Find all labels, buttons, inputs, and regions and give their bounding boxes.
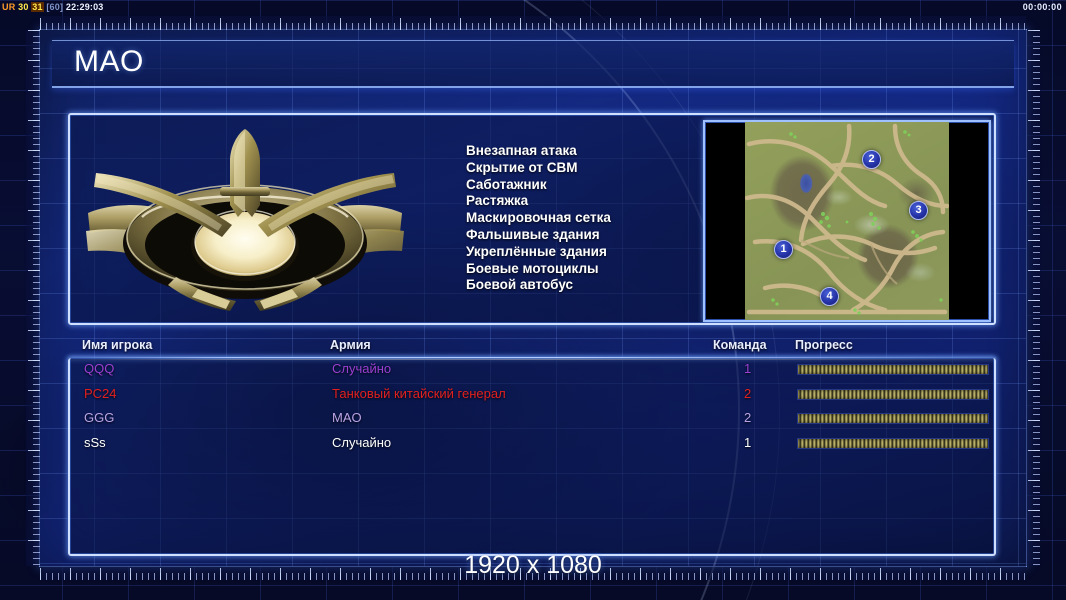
player-progress-bar [797,438,989,449]
session-time: 22:29:03 [66,2,104,12]
ability-item: Фальшивые здания [466,227,611,244]
progress-track [797,364,989,375]
player-army: Случайно [332,435,391,450]
ruler-right [1026,30,1040,566]
player-progress-bar [797,389,989,400]
fps-value-a: 30 [18,2,28,12]
fps-prefix: UR [2,2,15,12]
map-start-position: 2 [862,150,881,169]
column-header-progress: Прогресс [795,338,853,352]
column-header-army: Армия [330,338,371,352]
player-progress-bar [797,364,989,375]
clock: 00:00:00 [1023,0,1062,14]
player-name: QQQ [84,361,114,376]
progress-fill [798,390,988,399]
ruler-top [40,16,1026,30]
player-rows: QQQСлучайно1PC24Танковый китайский генер… [70,358,994,456]
player-army: Танковый китайский генерал [332,386,506,401]
ability-item: Внезапная атака [466,143,611,160]
fps-counter: UR 30 31 [60] 22:29:03 [2,0,104,14]
ruler-left [26,30,40,566]
ability-item: Скрытие от СВМ [466,160,611,177]
ability-item: Укреплённые здания [466,244,611,261]
minimap-preview[interactable]: 1 2 3 4 [703,120,991,322]
player-army: Случайно [332,361,391,376]
resolution-label: 1920 x 1080 [0,551,1066,580]
player-army: MAO [332,410,362,425]
progress-track [797,438,989,449]
player-name: GGG [84,410,114,425]
player-list-header: Имя игрока Армия Команда Прогресс [68,338,996,356]
progress-fill [798,414,988,423]
map-start-position: 1 [774,240,793,259]
column-header-team: Команда [713,338,767,352]
fps-cap: [60] [46,2,63,12]
player-team: 2 [744,386,751,401]
general-info-panel: Внезапная атака Скрытие от СВМ Саботажни… [68,113,996,325]
ability-item: Саботажник [466,177,611,194]
page-title: MAO [74,45,144,79]
player-team: 1 [744,435,751,450]
top-status-bar: UR 30 31 [60] 22:29:03 00:00:00 [0,0,1066,14]
general-emblem [80,121,410,319]
fps-value-b: 31 [31,2,43,12]
table-row[interactable]: GGGMAO2 [70,407,994,432]
player-team: 2 [744,410,751,425]
player-name: PC24 [84,386,117,401]
progress-track [797,413,989,424]
table-row[interactable]: PC24Танковый китайский генерал2 [70,383,994,408]
ability-item: Боевой автобус [466,277,611,294]
gla-emblem-icon [80,121,410,319]
player-team: 1 [744,361,751,376]
player-progress-bar [797,413,989,424]
table-row[interactable]: sSsСлучайно1 [70,432,994,457]
title-bar: MAO [52,40,1014,88]
player-name: sSs [84,435,106,450]
general-ability-list: Внезапная атака Скрытие от СВМ Саботажни… [466,143,611,294]
minimap-roads [745,122,949,320]
table-row[interactable]: QQQСлучайно1 [70,358,994,383]
ability-item: Маскировочная сетка [466,210,611,227]
progress-fill [798,365,988,374]
ability-item: Боевые мотоциклы [466,261,611,278]
progress-fill [798,439,988,448]
column-header-name: Имя игрока [82,338,152,352]
map-start-position: 3 [909,201,928,220]
map-start-position: 4 [820,287,839,306]
player-list-panel: QQQСлучайно1PC24Танковый китайский генер… [68,358,996,556]
game-lobby-screen: UR 30 31 [60] 22:29:03 00:00:00 MAO [0,0,1066,600]
progress-track [797,389,989,400]
ability-item: Растяжка [466,193,611,210]
